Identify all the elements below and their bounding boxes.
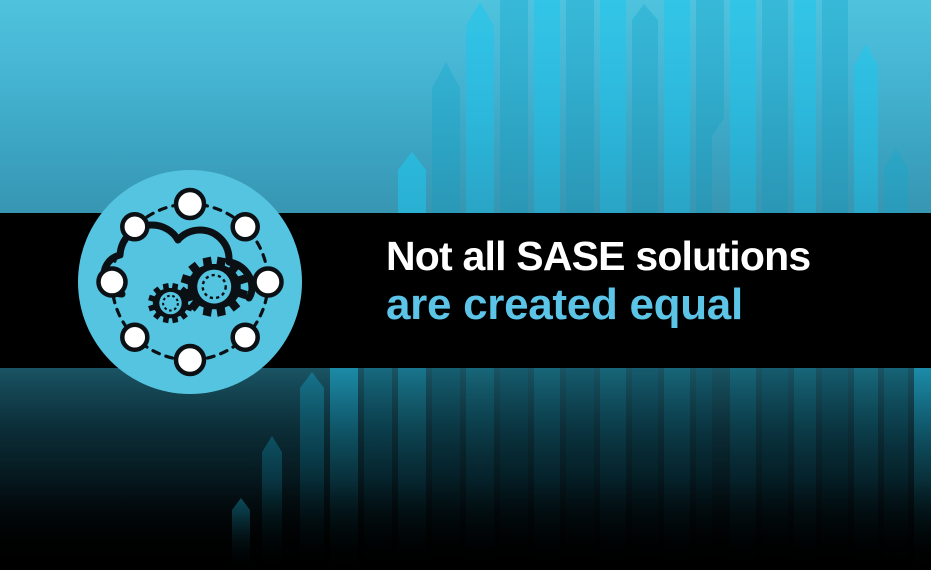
node-dot-e xyxy=(255,269,282,296)
headline-line-2: are created equal xyxy=(386,283,886,327)
node-dot-n xyxy=(176,190,204,218)
bottom-fade-overlay xyxy=(0,368,931,570)
cloud-gears-network-icon xyxy=(78,170,302,394)
node-dot-ne xyxy=(233,214,258,239)
node-dot-se xyxy=(233,325,258,350)
headline-line-1: Not all SASE solutions xyxy=(386,236,886,277)
node-dot-nw xyxy=(122,214,147,239)
node-dot-s xyxy=(176,346,204,374)
headline-block: Not all SASE solutions are created equal xyxy=(386,236,886,327)
gear-small xyxy=(148,283,193,323)
sase-marketing-banner: Not all SASE solutions are created equal xyxy=(0,0,931,570)
node-dot-sw xyxy=(122,325,147,350)
node-dot-w xyxy=(99,269,126,296)
